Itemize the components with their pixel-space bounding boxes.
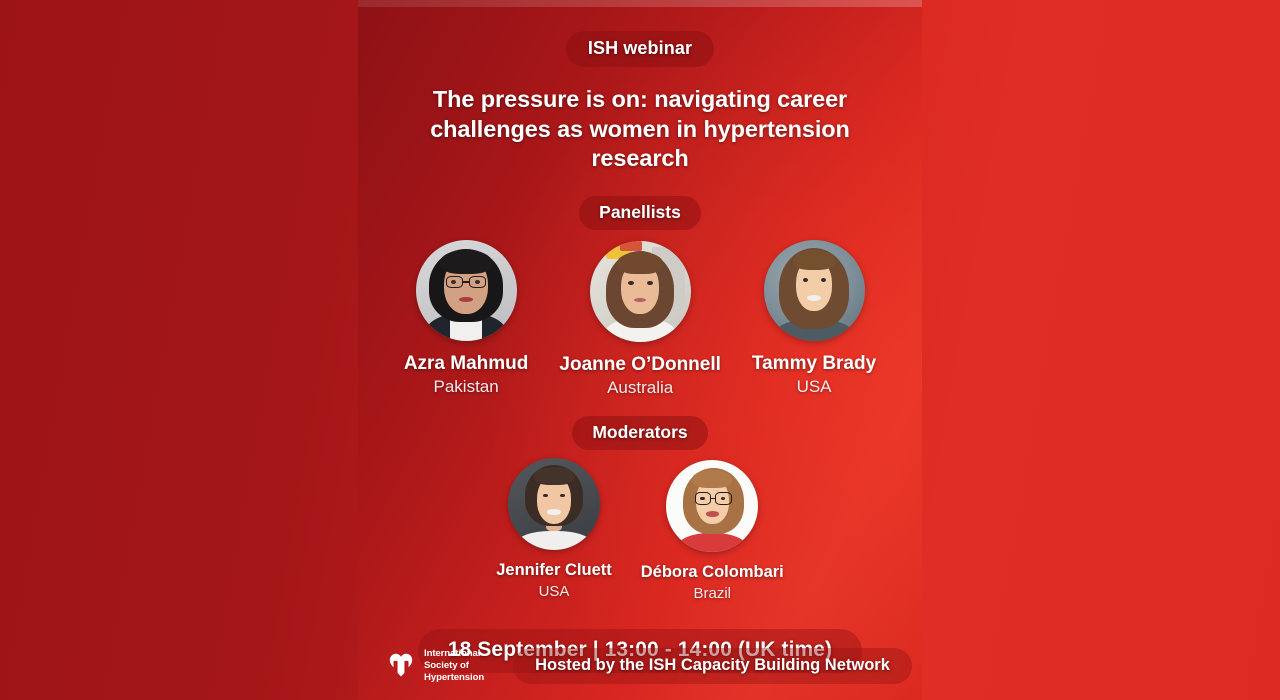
portrait-tammy-brady [764,240,865,341]
portrait-azra-mahmud [416,240,517,341]
moderator-country: Brazil [641,585,784,603]
ish-logo-text: International Society of Hypertension [424,648,484,683]
panellist-country: Pakistan [404,377,529,397]
hosted-by-badge: Hosted by the ISH Capacity Building Netw… [513,648,912,684]
webinar-poster: ISH webinar The pressure is on: navigati… [358,0,922,700]
moderator-card: Jennifer Cluett USA [496,458,612,601]
panellist-name: Azra Mahmud [404,353,529,375]
ish-logo-line-1: International [424,648,484,660]
avatar [666,460,758,552]
moderator-name: Débora Colombari [641,563,784,582]
poster-footer: International Society of Hypertension Ho… [358,648,922,684]
panellists-list: Azra Mahmud Pakistan [358,240,922,399]
panellist-card: Joanne O’Donnell Australia [559,241,721,399]
avatar [416,240,517,341]
page-title: The pressure is on: navigating career ch… [358,85,922,174]
badge-row: ISH webinar [358,31,922,67]
panellist-country: USA [752,377,876,397]
panellists-section-label: Panellists [579,196,701,230]
moderators-section-label: Moderators [572,416,707,450]
panellist-card: Tammy Brady USA [752,240,876,398]
wallpaper-backdrop: ISH webinar The pressure is on: navigati… [0,0,1280,700]
portrait-joanne-odonnell [590,241,691,342]
avatar [764,240,865,341]
ish-heart-arrow-logo-icon [386,651,416,681]
moderator-country: USA [496,583,612,601]
ish-webinar-badge: ISH webinar [566,31,714,67]
panellist-country: Australia [559,378,721,398]
moderator-card: Débora Colombari Brazil [641,460,784,603]
moderators-list: Jennifer Cluett USA [358,458,922,603]
avatar [590,241,691,342]
portrait-jennifer-cluett [508,458,600,550]
ish-logo: International Society of Hypertension [386,648,484,683]
panellists-header-row: Panellists [358,196,922,230]
avatar [508,458,600,550]
moderator-name: Jennifer Cluett [496,561,612,580]
moderators-header-row: Moderators [358,416,922,450]
panellist-card: Azra Mahmud Pakistan [404,240,529,398]
ish-logo-line-3: Hypertension [424,672,484,684]
panellist-name: Joanne O’Donnell [559,354,721,376]
ish-logo-line-2: Society of [424,660,484,672]
portrait-debora-colombari [666,460,758,552]
panellist-name: Tammy Brady [752,353,876,375]
